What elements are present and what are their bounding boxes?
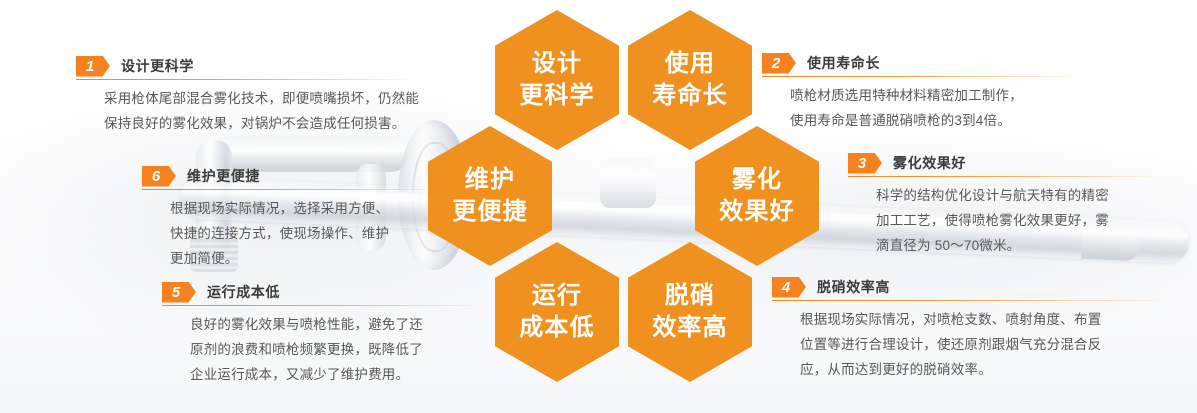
hexagon-line-1: 雾化 [732, 164, 782, 196]
divider-rule [162, 305, 484, 306]
number-badge-icon: 1 [76, 56, 110, 77]
feature-title: 雾化效果好 [893, 153, 966, 173]
feature-block-6: 6 维护更便捷 根据现场实际情况，选择采用方便、 快捷的连接方式，使现场操作、维… [142, 165, 454, 271]
number-badge-icon: 4 [772, 277, 806, 298]
infographic-canvas: 设计 更科学 使用 寿命长 维护 更便捷 雾化 效果好 运行 成本低 脱硝 效率… [0, 0, 1197, 413]
hexagon-line-2: 更科学 [519, 80, 595, 112]
number-badge-icon: 6 [142, 166, 176, 187]
feature-heading: 3 雾化效果好 [848, 152, 1168, 174]
number-badge-icon: 3 [848, 153, 882, 174]
hexagon-line-2: 成本低 [519, 312, 595, 344]
divider-rule [772, 300, 1170, 301]
hexagon-line-1: 运行 [532, 280, 582, 312]
feature-heading: 6 维护更便捷 [142, 165, 454, 187]
hexagon-line-2: 效果好 [719, 196, 795, 228]
hexagon-line-1: 设计 [532, 48, 582, 80]
hexagon-long-service-life[interactable]: 使用 寿命长 [628, 10, 752, 150]
divider-rule [142, 189, 448, 190]
divider-rule [848, 176, 1160, 177]
feature-body: 科学的结构优化设计与航天特有的精密 加工工艺，使得喷枪雾化效果更好，雾 滴直径为… [848, 183, 1168, 258]
hexagon-line-1: 使用 [665, 48, 715, 80]
feature-title: 设计更科学 [121, 56, 194, 76]
hexagon-design-more-scientific[interactable]: 设计 更科学 [495, 10, 619, 150]
feature-body: 根据现场实际情况，选择采用方便、 快捷的连接方式，使现场操作、维护 更加简便。 [142, 196, 454, 271]
hexagon-line-2: 寿命长 [652, 80, 728, 112]
feature-block-2: 2 使用寿命长 喷枪材质选用特种材料精密加工制作， 使用寿命是普通脱硝喷枪的3到… [762, 52, 1092, 133]
hexagon-high-denitrification-efficiency[interactable]: 脱硝 效率高 [628, 242, 752, 382]
hexagon-good-atomizing-effect[interactable]: 雾化 效果好 [695, 126, 819, 266]
feature-title: 使用寿命长 [807, 53, 880, 73]
feature-title: 维护更便捷 [187, 166, 260, 186]
feature-title: 脱硝效率高 [817, 277, 890, 297]
feature-heading: 1 设计更科学 [76, 55, 426, 77]
feature-title: 运行成本低 [207, 282, 280, 302]
feature-body: 根据现场实际情况，对喷枪支数、喷射角度、布置 位置等进行合理设计，使还原剂跟烟气… [772, 307, 1176, 382]
hexagon-low-running-cost[interactable]: 运行 成本低 [495, 242, 619, 382]
hexagon-line-1: 维护 [465, 164, 515, 196]
number-badge-icon: 5 [162, 282, 196, 303]
background-lance-collar [600, 158, 656, 208]
number-badge-icon: 2 [762, 53, 796, 74]
feature-body: 采用枪体尾部混合雾化技术，即便喷嘴损坏，仍然能 保持良好的雾化效果，对锅炉不会造… [76, 86, 426, 136]
divider-rule [762, 76, 1084, 77]
feature-block-4: 4 脱硝效率高 根据现场实际情况，对喷枪支数、喷射角度、布置 位置等进行合理设计… [772, 276, 1176, 382]
feature-heading: 4 脱硝效率高 [772, 276, 1176, 298]
feature-body: 良好的雾化效果与喷枪性能，避免了还 原剂的浪费和喷枪频繁更换，既降低了 企业运行… [162, 312, 492, 387]
divider-rule [76, 79, 420, 80]
feature-body: 喷枪材质选用特种材料精密加工制作， 使用寿命是普通脱硝喷枪的3到4倍。 [762, 83, 1092, 133]
feature-heading: 5 运行成本低 [162, 281, 492, 303]
feature-heading: 2 使用寿命长 [762, 52, 1092, 74]
feature-block-3: 3 雾化效果好 科学的结构优化设计与航天特有的精密 加工工艺，使得喷枪雾化效果更… [848, 152, 1168, 258]
feature-block-5: 5 运行成本低 良好的雾化效果与喷枪性能，避免了还 原剂的浪费和喷枪频繁更换，既… [162, 281, 492, 387]
feature-block-1: 1 设计更科学 采用枪体尾部混合雾化技术，即便喷嘴损坏，仍然能 保持良好的雾化效… [76, 55, 426, 136]
hexagon-line-2: 效率高 [652, 312, 728, 344]
hexagon-line-1: 脱硝 [665, 280, 715, 312]
hexagon-line-2: 更便捷 [452, 196, 528, 228]
